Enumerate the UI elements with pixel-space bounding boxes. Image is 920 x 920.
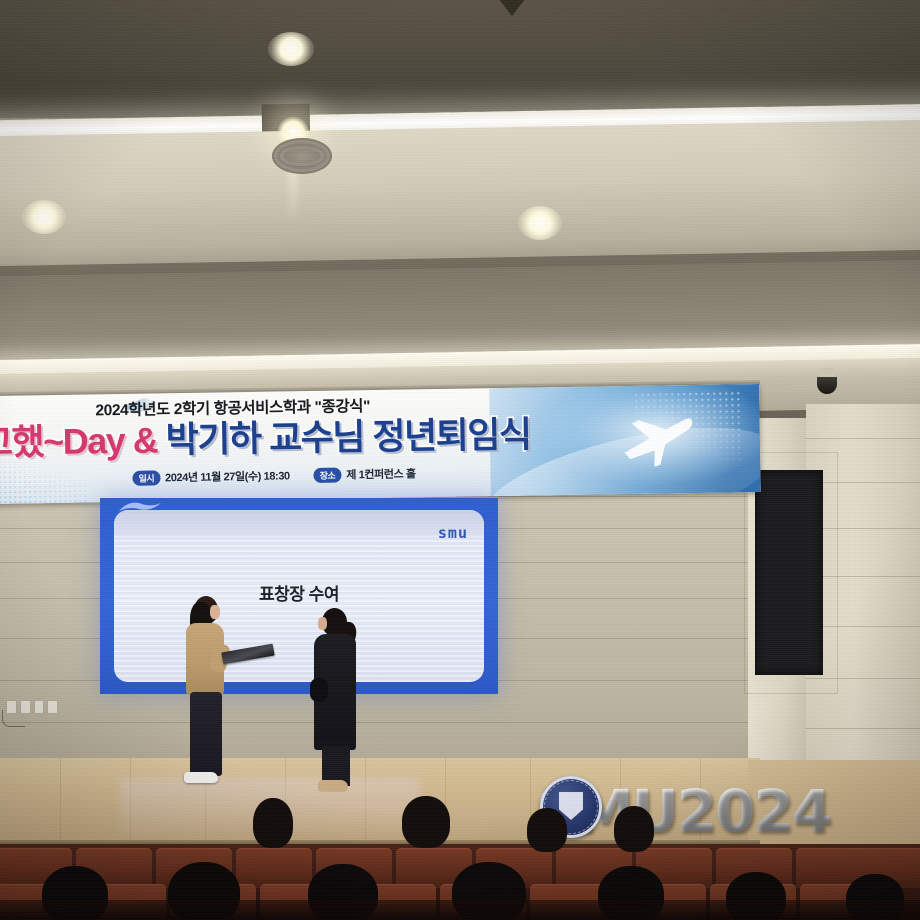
- sign-letter: 4: [792, 782, 830, 840]
- audience-head: [614, 806, 654, 852]
- downlight-icon: [22, 200, 66, 234]
- recipient-face: [318, 617, 327, 630]
- gull-graphic-icon: [118, 500, 162, 516]
- seat: [236, 848, 312, 888]
- banner-location-value: 제 1컨퍼런스 홀: [346, 465, 416, 482]
- slide-top-band: [114, 510, 484, 536]
- camera-dome: [817, 377, 837, 394]
- audience-head: [527, 808, 567, 852]
- banner-title-pink: 고했~Day &: [0, 419, 158, 463]
- presenter-shoe: [184, 772, 218, 783]
- projector-screen: smu 표창장 수여: [100, 498, 498, 694]
- smu-logo: smu: [438, 524, 468, 542]
- sign-letter: 2: [677, 782, 715, 840]
- downlight-icon: [268, 32, 314, 66]
- sign-letter: 2: [753, 782, 791, 840]
- ceiling-upper-dark: [0, 0, 920, 118]
- audience-head: [402, 796, 450, 848]
- event-banner: 2024학년도 2학기 항공서비스학과 "종강식" 고했~Day & 박기하 교…: [0, 384, 761, 504]
- presenter-figure: [176, 596, 240, 792]
- banner-datetime-pill: 일시: [132, 470, 160, 485]
- audience-head: [253, 798, 293, 848]
- slide-card: smu 표창장 수여: [114, 510, 484, 682]
- recipient-figure: [306, 608, 368, 794]
- downlight-icon: [518, 206, 562, 240]
- sign-letter: 0: [715, 782, 753, 840]
- dark-wall-panel: [755, 470, 823, 675]
- socket-icon: [34, 700, 45, 714]
- audience-shadow: [0, 900, 920, 920]
- speaker-grille-icon: [272, 138, 332, 174]
- recipient-shoe: [318, 780, 348, 792]
- presenter-trousers: [190, 692, 222, 776]
- recipient-bag: [310, 678, 328, 702]
- banner-title-navy: 박기하 교수님 정년퇴임식: [165, 414, 530, 461]
- dome-camera-icon: [817, 368, 837, 394]
- banner-datetime-value: 2024년 11월 27일(수) 18:30: [165, 467, 290, 485]
- presenter-face: [210, 605, 220, 619]
- auditorium-photo: 2024학년도 2학기 항공서비스학과 "종강식" 고했~Day & 박기하 교…: [0, 0, 920, 920]
- banner-location-pill: 장소: [314, 467, 342, 482]
- socket-icon: [47, 700, 58, 714]
- slide-title: 표창장 수여: [114, 580, 484, 605]
- outlet-wire: [2, 710, 25, 727]
